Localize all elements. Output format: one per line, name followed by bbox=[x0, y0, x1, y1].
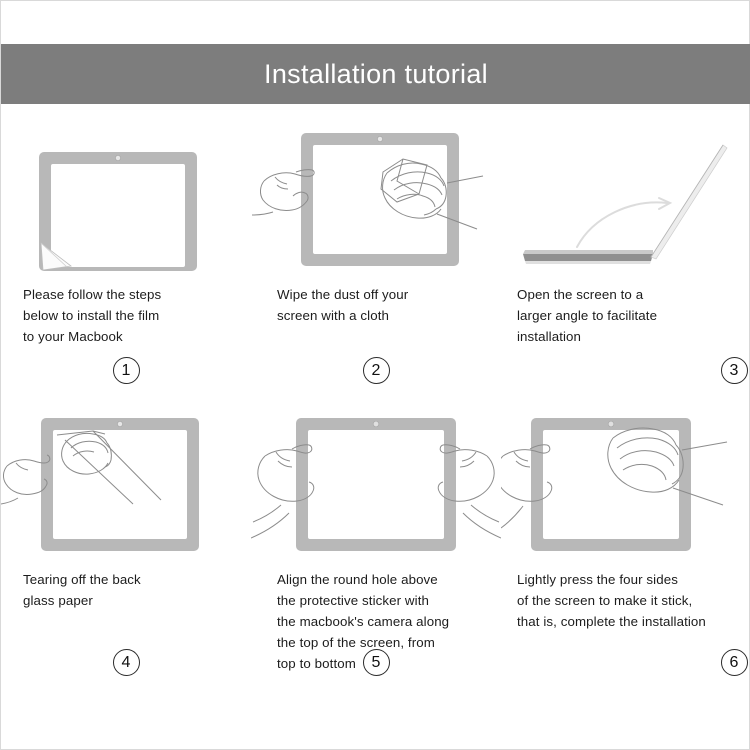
step-card-5: Align the round hole above the protectiv… bbox=[251, 404, 501, 674]
macbook-screen-icon bbox=[41, 418, 199, 551]
step-1-illustration bbox=[1, 119, 251, 274]
step-number-badge: 5 bbox=[363, 649, 390, 676]
page-title: Installation tutorial bbox=[264, 61, 488, 88]
header-banner: Installation tutorial bbox=[1, 44, 750, 104]
step-3-caption: Open the screen to a larger angle to fac… bbox=[501, 284, 750, 347]
caption-line: of the screen to make it stick, bbox=[517, 590, 745, 611]
step-card-6: Lightly press the four sides of the scre… bbox=[501, 404, 750, 632]
caption-line: Lightly press the four sides bbox=[517, 569, 745, 590]
caption-line: screen with a cloth bbox=[277, 305, 491, 326]
macbook-screen-icon bbox=[296, 418, 456, 551]
step-3-illustration bbox=[501, 119, 750, 274]
macbook-screen-icon bbox=[531, 418, 691, 551]
laptop-base-icon bbox=[523, 250, 653, 264]
caption-line: installation bbox=[517, 326, 745, 347]
step-3-number-wrap: 3 bbox=[501, 357, 750, 384]
step-6-number-wrap: 6 bbox=[501, 649, 750, 676]
step-4-caption: Tearing off the back glass paper bbox=[1, 569, 251, 611]
step-card-3: Open the screen to a larger angle to fac… bbox=[501, 119, 750, 347]
caption-line: the protective sticker with bbox=[277, 590, 491, 611]
caption-line: Please follow the steps bbox=[23, 284, 237, 305]
caption-line: that is, complete the installation bbox=[517, 611, 745, 632]
open-direction-arrow-icon bbox=[577, 198, 670, 247]
step-number-badge: 6 bbox=[721, 649, 748, 676]
step-number-badge: 2 bbox=[363, 357, 390, 384]
step-6-caption: Lightly press the four sides of the scre… bbox=[501, 569, 750, 632]
caption-line: Wipe the dust off your bbox=[277, 284, 491, 305]
caption-line: below to install the film bbox=[23, 305, 237, 326]
caption-line: Align the round hole above bbox=[277, 569, 491, 590]
caption-line: Open the screen to a bbox=[517, 284, 745, 305]
step-5-illustration bbox=[251, 404, 501, 559]
step-card-2: Wipe the dust off your screen with a clo… bbox=[251, 119, 501, 326]
step-2-number-wrap: 2 bbox=[251, 357, 529, 384]
macbook-screen-icon bbox=[301, 133, 459, 266]
caption-line: to your Macbook bbox=[23, 326, 237, 347]
step-6-illustration bbox=[501, 404, 750, 559]
step-2-caption: Wipe the dust off your screen with a clo… bbox=[251, 284, 501, 326]
step-number-badge: 1 bbox=[113, 357, 140, 384]
step-2-illustration bbox=[251, 119, 501, 274]
step-number-badge: 3 bbox=[721, 357, 748, 384]
step-card-4: Tearing off the back glass paper 4 bbox=[1, 404, 251, 611]
caption-line: Tearing off the back bbox=[23, 569, 237, 590]
caption-line: larger angle to facilitate bbox=[517, 305, 745, 326]
macbook-screen-icon bbox=[39, 152, 197, 271]
step-5-number-wrap: 5 bbox=[251, 649, 529, 676]
tutorial-page: Installation tutorial Plea bbox=[0, 0, 750, 750]
steps-grid: Please follow the steps below to install… bbox=[1, 119, 750, 749]
step-4-illustration bbox=[1, 404, 251, 559]
step-number-badge: 4 bbox=[113, 649, 140, 676]
step-card-1: Please follow the steps below to install… bbox=[1, 119, 251, 347]
caption-line: the macbook's camera along bbox=[277, 611, 491, 632]
caption-line: glass paper bbox=[23, 590, 237, 611]
step-1-caption: Please follow the steps below to install… bbox=[1, 284, 251, 347]
